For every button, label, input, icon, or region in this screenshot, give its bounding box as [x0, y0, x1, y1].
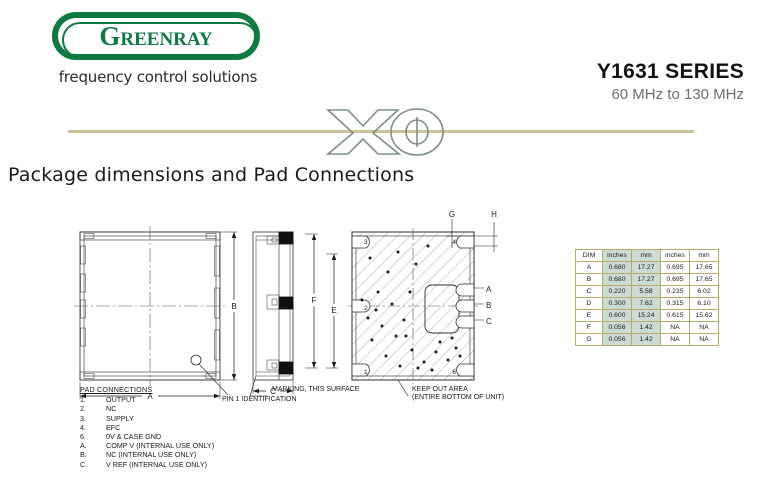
cell-min-in: 0.600	[603, 310, 632, 322]
list-item: 1. OUTPUT	[80, 395, 214, 404]
callout-pin1: PIN 1 IDENTIFICATION	[222, 396, 297, 405]
dimension-h	[474, 222, 498, 252]
cell-min-mm: 5.58	[632, 286, 661, 298]
pad-value: EFC	[106, 423, 120, 432]
column-header-inches-min: inches	[603, 250, 632, 262]
cell-dim: D	[576, 298, 603, 310]
callout-keepout-line2: (ENTIRE BOTTOM OF UNIT)	[412, 394, 504, 403]
column-header-mm-min: mm	[632, 250, 661, 262]
cell-max-mm: NA	[690, 322, 719, 334]
pad-connections-title: PAD CONNECTIONS	[80, 385, 214, 394]
cell-min-mm: 7.62	[632, 298, 661, 310]
dim-label-f: F	[312, 296, 317, 305]
pad-key: 1.	[80, 395, 106, 404]
dim-label-h: H	[491, 210, 497, 219]
cell-min-mm: 1.42	[632, 334, 661, 346]
list-item: 2. NC	[80, 404, 214, 413]
pad-number-2: 2	[364, 305, 368, 312]
dim-label-pad-c: C	[486, 317, 492, 326]
top-view	[74, 226, 226, 386]
cell-max-mm: 17.65	[690, 274, 719, 286]
list-item: C. V REF (INTERNAL USE ONLY)	[80, 460, 214, 469]
cell-dim: E	[576, 310, 603, 322]
pad-value: NC (INTERNAL USE ONLY)	[106, 450, 196, 459]
pad-value: OUTPUT	[106, 395, 136, 404]
page-header: Greenray frequency control solutions Y16…	[0, 0, 762, 105]
cell-max-mm: NA	[690, 334, 719, 346]
cell-min-mm: 15.24	[632, 310, 661, 322]
pad-value: SUPPLY	[106, 414, 134, 423]
cell-min-mm: 1.42	[632, 322, 661, 334]
cell-min-in: 0.680	[603, 262, 632, 274]
cell-max-in: 0.695	[661, 262, 690, 274]
list-item: 3. SUPPLY	[80, 414, 214, 423]
pad-value: 0V & CASE GND	[106, 432, 161, 441]
cell-dim: A	[576, 262, 603, 274]
side-view	[253, 232, 293, 380]
cell-max-in: 0.695	[661, 274, 690, 286]
bottom-view: 3 4 1 6 2	[348, 228, 478, 384]
cell-dim: B	[576, 274, 603, 286]
pad-key: B.	[80, 450, 106, 459]
logo-tagline: frequency control solutions	[54, 68, 262, 86]
pad-number-1: 1	[364, 369, 368, 376]
cell-min-in: 0.220	[603, 286, 632, 298]
cell-dim: C	[576, 286, 603, 298]
pad-key: 6.	[80, 432, 106, 441]
table-row: D 0.300 7.62 0.315 6.10	[576, 298, 719, 310]
pad-value: V REF (INTERNAL USE ONLY)	[106, 460, 207, 469]
column-header-dim: DIM	[576, 250, 603, 262]
table-row: C 0.220 5.58 0.235 6.02	[576, 286, 719, 298]
list-item: B. NC (INTERNAL USE ONLY)	[80, 450, 214, 459]
pad-key: A.	[80, 441, 106, 450]
pad-number-6: 6	[452, 369, 456, 376]
cell-min-in: 0.680	[603, 274, 632, 286]
pad-key: 2.	[80, 404, 106, 413]
pad-key: C.	[80, 460, 106, 469]
dim-label-pad-b: B	[486, 301, 491, 310]
list-item: A. COMP V (INTERNAL USE ONLY)	[80, 441, 214, 450]
cell-max-in: 0.615	[661, 310, 690, 322]
column-header-inches-max: inches	[661, 250, 690, 262]
dim-label-e: E	[331, 306, 336, 315]
page-title: Y1631 SERIES	[597, 60, 744, 84]
cell-max-in: NA	[661, 334, 690, 346]
table-row: G 0.056 1.42 NA NA	[576, 334, 719, 346]
column-header-mm-max: mm	[690, 250, 719, 262]
cell-min-in: 0.056	[603, 322, 632, 334]
cell-max-mm: 6.02	[690, 286, 719, 298]
pad-value: COMP V (INTERNAL USE ONLY)	[106, 441, 214, 450]
cell-dim: G	[576, 334, 603, 346]
callout-marking: MARKING, THIS SURFACE	[272, 386, 359, 395]
series-title-block: Y1631 SERIES 60 MHz to 130 MHz	[597, 60, 744, 103]
cell-max-mm: 6.10	[690, 298, 719, 310]
cell-max-in: 0.235	[661, 286, 690, 298]
dim-label-pad-a: A	[486, 285, 492, 294]
logo-wordmark: Greenray	[52, 12, 260, 60]
pad-value: NC	[106, 404, 116, 413]
pad-key: 3.	[80, 414, 106, 423]
pad-number-4: 4	[452, 239, 456, 246]
cell-dim: F	[576, 322, 603, 334]
cell-max-in: NA	[661, 322, 690, 334]
table-header-row: DIM inches mm inches mm	[576, 250, 719, 262]
table-row: A 0.680 17.27 0.695 17.65	[576, 262, 719, 274]
pad-connections-list: PAD CONNECTIONS 1. OUTPUT 2. NC 3. SUPPL…	[80, 385, 214, 469]
list-item: 4. EFC	[80, 423, 214, 432]
dim-label-g: G	[449, 210, 455, 219]
cell-min-mm: 17.27	[632, 262, 661, 274]
dim-label-b: B	[231, 302, 236, 311]
table-row: E 0.600 15.24 0.615 15.62	[576, 310, 719, 322]
xo-divider	[0, 106, 762, 154]
table-row: B 0.680 17.27 0.695 17.65	[576, 274, 719, 286]
section-heading: Package dimensions and Pad Connections	[8, 164, 414, 186]
cell-min-mm: 17.27	[632, 274, 661, 286]
pad-key: 4.	[80, 423, 106, 432]
greenray-logo: Greenray frequency control solutions	[52, 12, 267, 92]
pad-number-3: 3	[364, 239, 368, 246]
xo-outline-icon	[320, 104, 450, 158]
cell-max-mm: 17.65	[690, 262, 719, 274]
cell-min-in: 0.300	[603, 298, 632, 310]
dimension-table: DIM inches mm inches mm A 0.680 17.27 0.…	[575, 249, 719, 346]
cell-min-in: 0.056	[603, 334, 632, 346]
cell-max-mm: 15.62	[690, 310, 719, 322]
page-subtitle: 60 MHz to 130 MHz	[597, 86, 744, 103]
cell-max-in: 0.315	[661, 298, 690, 310]
table-row: F 0.056 1.42 NA NA	[576, 322, 719, 334]
list-item: 6. 0V & CASE GND	[80, 432, 214, 441]
